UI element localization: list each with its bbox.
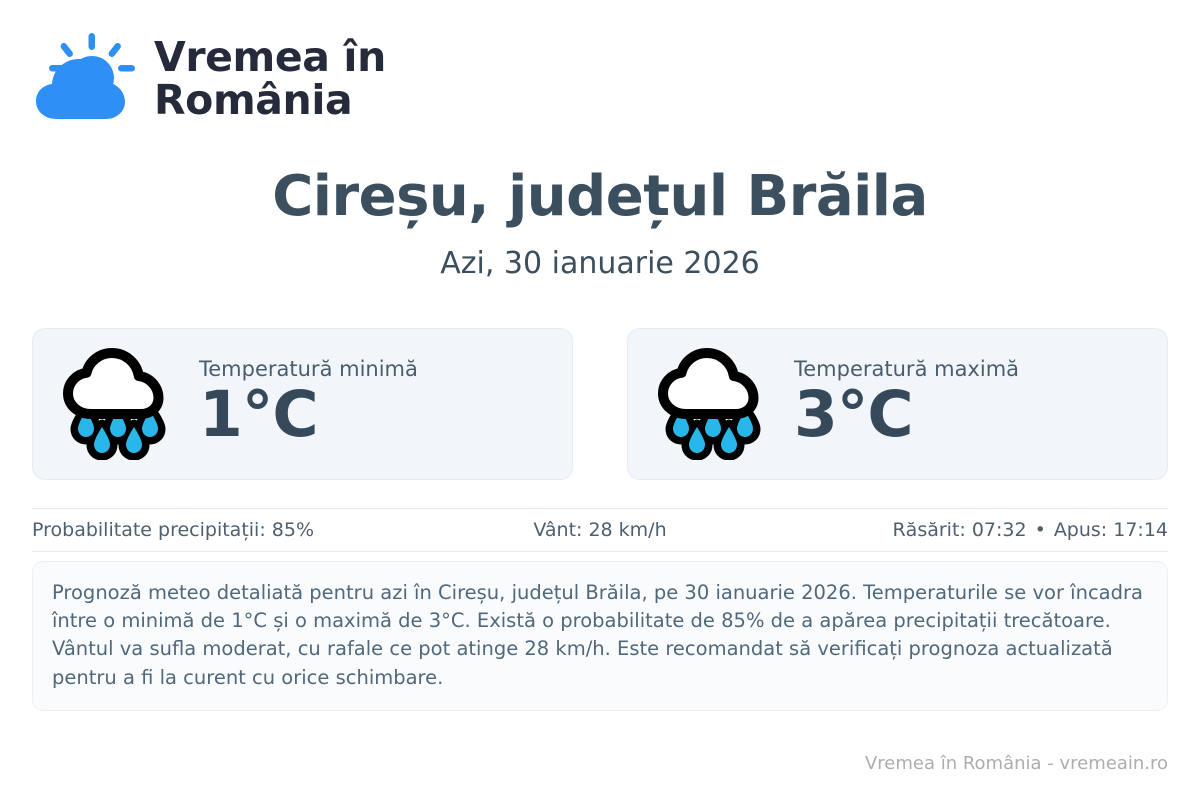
weather-stats: Probabilitate precipitații: 85% Vânt: 28… bbox=[32, 509, 1168, 551]
page-title: Cireșu, județul Brăila bbox=[32, 168, 1168, 227]
rain-cloud-icon bbox=[654, 348, 772, 460]
forecast-description: Prognoză meteo detaliată pentru azi în C… bbox=[32, 561, 1168, 711]
temperature-min-card: Temperatură minimă 1°C bbox=[32, 328, 573, 480]
sun-behind-cloud-icon bbox=[32, 31, 136, 127]
bullet-separator-icon: • bbox=[1027, 519, 1054, 541]
footer-credit: Vremea în România - vremeain.ro bbox=[865, 753, 1168, 774]
wind-stat: Vânt: 28 km/h bbox=[411, 519, 790, 541]
precipitation-stat: Probabilitate precipitații: 85% bbox=[32, 519, 411, 541]
temperature-max-body: Temperatură maximă 3°C bbox=[794, 357, 1019, 451]
temperature-max-value: 3°C bbox=[794, 383, 1019, 447]
temperature-max-card: Temperatură maximă 3°C bbox=[627, 328, 1168, 480]
weather-page: Vremea în România Cireșu, județul Brăila… bbox=[0, 0, 1200, 800]
sun-times-stat: Răsărit: 07:32•Apus: 17:14 bbox=[789, 519, 1168, 541]
rain-cloud-icon bbox=[59, 348, 177, 460]
sunset-value: Apus: 17:14 bbox=[1054, 519, 1168, 541]
temperature-cards: Temperatură minimă 1°C bbox=[32, 328, 1168, 480]
brand-name: Vremea în România bbox=[154, 36, 386, 122]
sunrise-value: Răsărit: 07:32 bbox=[892, 519, 1026, 541]
temperature-min-value: 1°C bbox=[199, 383, 418, 447]
divider-bottom bbox=[32, 551, 1168, 552]
brand-header: Vremea în România bbox=[32, 0, 1168, 110]
page-subtitle: Azi, 30 ianuarie 2026 bbox=[32, 247, 1168, 280]
temperature-min-body: Temperatură minimă 1°C bbox=[199, 357, 418, 451]
